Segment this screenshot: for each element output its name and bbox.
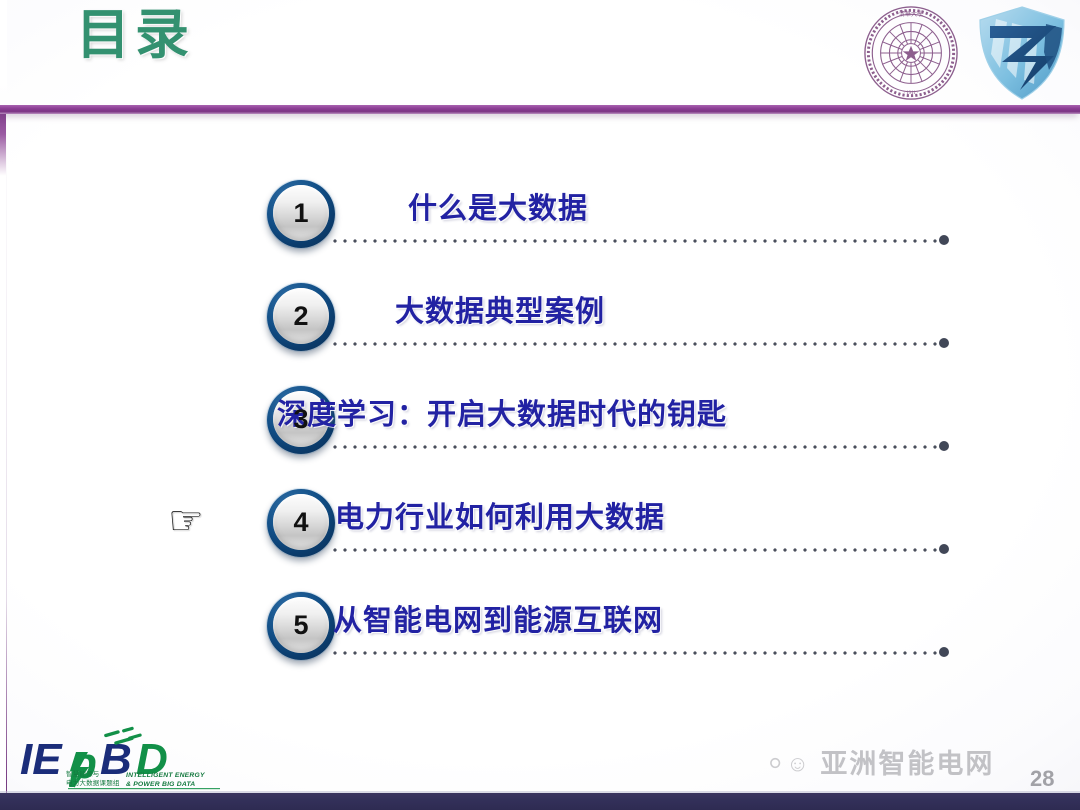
agenda-item-4[interactable]: ☞ 4 电力行业如何利用大数据	[0, 489, 1080, 592]
presentation-slide: 目录	[0, 0, 1080, 810]
page-number: 28	[1030, 768, 1054, 790]
agenda-label-2: 大数据典型案例	[0, 288, 1080, 330]
tsinghua-university-seal-icon: 清華大學 · 1911 ·	[862, 4, 960, 102]
agenda-label-5: 从智能电网到能源互联网	[0, 597, 1080, 639]
agenda-leader-end-dot-1	[939, 235, 949, 245]
footer-bar	[0, 793, 1080, 810]
agenda-list: 1 什么是大数据 2 大数据典型案例 3 深度学习：开启大数据时代的钥匙 ☞	[0, 180, 1080, 695]
header-rule	[0, 105, 1080, 114]
agenda-number-5: 5	[293, 612, 308, 639]
iepbd-tagline-en-line1: INTELLIGENT ENERGY	[126, 772, 205, 779]
blue-shield-logo-icon	[976, 4, 1068, 102]
wechat-bubble-icon: ⚪☺	[766, 751, 811, 777]
agenda-item-5[interactable]: 5 从智能电网到能源互联网	[0, 592, 1080, 695]
iepbd-tagline-en: INTELLIGENT ENERGY & POWER BIG DATA	[126, 771, 205, 789]
agenda-leader-end-dot-3	[939, 441, 949, 451]
agenda-number-2: 2	[293, 303, 308, 330]
watermark-text: 亚洲智能电网	[820, 749, 994, 779]
watermark: ⚪☺ 亚洲智能电网	[766, 742, 994, 781]
agenda-label-4: 电力行业如何利用大数据	[0, 494, 1080, 536]
agenda-dotted-leader-3	[330, 445, 943, 449]
agenda-number-3: 3	[293, 406, 308, 433]
agenda-leader-end-dot-5	[939, 647, 949, 657]
agenda-dotted-leader-2	[330, 342, 943, 346]
agenda-item-3[interactable]: 3 深度学习：开启大数据时代的钥匙	[0, 386, 1080, 489]
page-title: 目录	[76, 8, 194, 62]
svg-text:· 1911 ·: · 1911 ·	[903, 91, 919, 96]
agenda-label-3: 深度学习：开启大数据时代的钥匙	[0, 391, 1080, 433]
agenda-item-2[interactable]: 2 大数据典型案例	[0, 283, 1080, 386]
svg-text:IE: IE	[20, 735, 63, 784]
iepbd-tagline-cn-line2: 电力大数据课题组	[66, 780, 120, 787]
iepbd-tagline-en-line2: & POWER BIG DATA	[126, 781, 195, 788]
agenda-leader-end-dot-4	[939, 544, 949, 554]
agenda-number-4: 4	[293, 509, 308, 536]
iepbd-tagline-cn-line1: 智慧能源与	[66, 771, 100, 778]
svg-text:清華大學: 清華大學	[899, 10, 923, 18]
agenda-dotted-leader-5	[330, 651, 943, 655]
slide-header: 目录	[0, 0, 1080, 114]
agenda-number-1: 1	[293, 200, 308, 227]
agenda-leader-end-dot-2	[939, 338, 949, 348]
agenda-item-1[interactable]: 1 什么是大数据	[0, 180, 1080, 283]
agenda-dotted-leader-1	[330, 239, 943, 243]
agenda-dotted-leader-4	[330, 548, 943, 552]
iepbd-tagline-cn: 智慧能源与 电力大数据课题组	[66, 771, 120, 789]
agenda-label-1: 什么是大数据	[0, 185, 1080, 227]
